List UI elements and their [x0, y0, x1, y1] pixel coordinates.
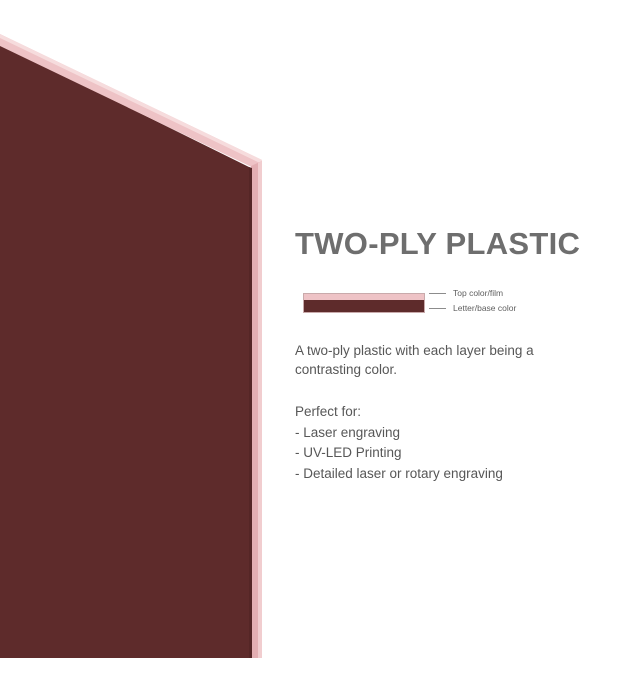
callout-top-layer: Top color/film [429, 289, 503, 298]
callout-base-layer: Letter/base color [429, 304, 516, 313]
leader-line-icon [429, 293, 446, 294]
page-title: TWO-PLY PLASTIC [295, 228, 615, 259]
list-item: - Detailed laser or rotary engraving [295, 464, 615, 485]
swatch-base-layer [304, 300, 424, 312]
two-ply-sheet-graphic [0, 0, 300, 700]
product-illustration [0, 0, 300, 700]
uses-list: - Laser engraving - UV-LED Printing - De… [295, 423, 615, 485]
sheet-right-edge-highlight [258, 161, 262, 658]
layer-swatch-stack [303, 293, 425, 313]
uses-heading: Perfect for: [295, 402, 615, 423]
sheet-edge-seam [249, 167, 252, 658]
leader-line-icon [429, 308, 446, 309]
product-description: A two-ply plastic with each layer being … [295, 342, 555, 379]
product-info-panel: TWO-PLY PLASTIC Top color/film Letter/ba… [295, 228, 615, 484]
callout-base-layer-label: Letter/base color [453, 304, 516, 313]
list-item: - UV-LED Printing [295, 443, 615, 464]
product-uses: Perfect for: - Laser engraving - UV-LED … [295, 402, 615, 484]
callout-top-layer-label: Top color/film [453, 289, 503, 298]
sheet-base-face [0, 44, 251, 658]
list-item: - Laser engraving [295, 423, 615, 444]
layer-diagram: Top color/film Letter/base color [295, 292, 615, 322]
